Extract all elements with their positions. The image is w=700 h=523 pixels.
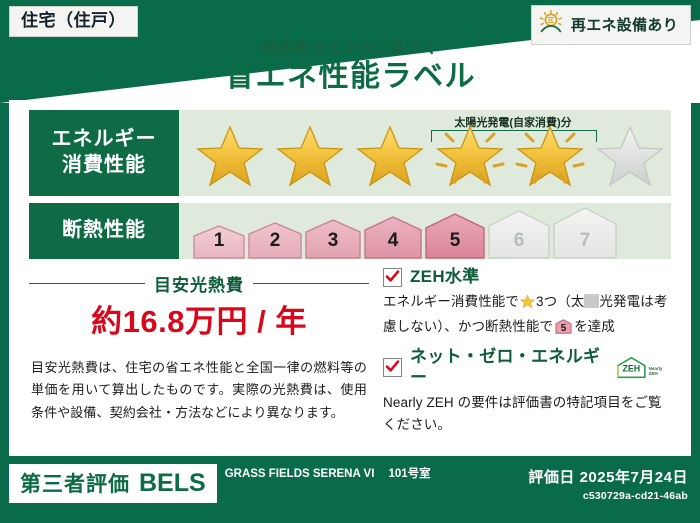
label-footer: 第三者評価 BELS GRASS FIELDS SERENA VI101号室 評… <box>0 458 700 523</box>
zeh-standard-check-head: ZEH水準 <box>383 267 671 287</box>
energy-key-line1: エネルギー <box>52 127 157 153</box>
star-icon-inactive <box>596 123 664 189</box>
insulation-level-5: 5 <box>425 213 485 259</box>
label-title: 建築物省エネ法に基づく 省エネ性能ラベル <box>0 40 700 96</box>
star-4 <box>431 120 509 192</box>
title-subtitle: 建築物省エネ法に基づく <box>0 40 700 58</box>
insulation-level-4: 4 <box>364 216 422 259</box>
star-icon <box>276 123 344 189</box>
renewable-equipment-badge: 再エネ設備あり <box>531 5 691 45</box>
energy-performance-row: エネルギー 消費性能 太陽光発電(自家消費)分 <box>29 110 671 196</box>
energy-key-line2: 消費性能 <box>62 153 146 179</box>
insulation-level-4-number: 4 <box>388 231 399 259</box>
insulation-level-2-number: 2 <box>270 231 281 259</box>
checkbox-checked-icon <box>383 358 402 377</box>
property-unit: 101号室 <box>388 468 430 480</box>
bels-badge: 第三者評価 BELS <box>9 464 217 503</box>
utility-cost-heading: 目安光熱費 <box>29 271 369 296</box>
insulation-level-1: 1 <box>193 225 245 259</box>
insulation-level-3-number: 3 <box>328 231 339 259</box>
insulation-level-7: 7 <box>553 207 617 259</box>
utility-cost-note: 目安光熱費は、住宅の省エネ性能と全国一律の燃料等の単価を用いて算出したものです。… <box>29 357 369 424</box>
energy-performance-label: 住宅（住戸） 再エネ設備あり 建築物省エネ法に基づく 省エネ性 <box>0 0 700 523</box>
insulation-level-1-number: 1 <box>214 231 225 259</box>
property-name: GRASS FIELDS SERENA VI <box>225 468 375 480</box>
property-info: GRASS FIELDS SERENA VI101号室 <box>225 467 431 483</box>
house-icon-number: 5 <box>555 321 572 337</box>
solar-sun-icon <box>538 9 564 40</box>
zeh-standard-body: エネルギー消費性能で3つ（太光発電は考慮しない）、かつ断熱性能で5を達成 <box>383 291 671 338</box>
insulation-performance-row: 断熱性能 1 2 <box>29 203 671 259</box>
net-zero-title: ネット・ゼロ・エネルギー <box>410 347 604 388</box>
insulation-level-2: 2 <box>248 222 302 259</box>
star-2 <box>271 120 349 192</box>
zeh-standard-title: ZEH水準 <box>410 267 480 287</box>
redacted-character <box>584 294 599 308</box>
utility-cost-value: 約16.8万円 / 年 <box>29 305 369 339</box>
star-icon <box>356 123 424 189</box>
net-zero-body: Nearly ZEH の要件は評価書の特記項目をご覧ください。 <box>383 392 671 436</box>
insulation-level-7-number: 7 <box>580 231 591 259</box>
zeh-standard-check: ZEH水準 エネルギー消費性能で3つ（太光発電は考慮しない）、かつ断熱性能で5を… <box>383 267 671 338</box>
title-main: 省エネ性能ラベル <box>0 59 700 96</box>
house-icon: 5 <box>555 319 572 334</box>
evaluation-meta: 評価日 2025年7月24日 c530729a-cd21-46ab <box>528 466 688 502</box>
star-icon <box>196 123 264 189</box>
evaluation-date-value: 2025年7月24日 <box>580 469 688 486</box>
energy-performance-key: エネルギー 消費性能 <box>29 110 179 196</box>
certification-checks: ZEH水準 エネルギー消費性能で3つ（太光発電は考慮しない）、かつ断熱性能で5を… <box>369 267 671 453</box>
insulation-performance-key: 断熱性能 <box>29 203 179 259</box>
star-1 <box>191 120 269 192</box>
star-icon <box>436 123 504 189</box>
star-icon <box>520 294 535 316</box>
insulation-level-5-number: 5 <box>450 231 461 259</box>
evaluation-date-line: 評価日 2025年7月24日 <box>528 466 688 487</box>
zeh-house-logo: ZEH Nearly ZEH <box>616 355 671 380</box>
star-3 <box>351 120 429 192</box>
star-6 <box>591 120 669 192</box>
cost-rule-right <box>253 283 369 285</box>
net-zero-check-head: ネット・ゼロ・エネルギー ZEH Nearly ZEH <box>383 347 671 388</box>
insulation-level-scale: 1 2 3 <box>179 203 617 259</box>
bels-en-label: BELS <box>139 469 206 498</box>
zeh-logo-subtext: Nearly ZEH <box>649 367 671 380</box>
zeh-body-part1: エネルギー消費性能で <box>383 294 519 309</box>
zeh-body-part2: 3つ（太 <box>536 294 584 309</box>
utility-cost-heading-label: 目安光熱費 <box>154 271 244 296</box>
energy-performance-value: 太陽光発電(自家消費)分 <box>179 110 671 196</box>
svg-text:ZEH: ZEH <box>622 364 640 374</box>
net-zero-energy-check: ネット・ゼロ・エネルギー ZEH Nearly ZEH Nearly ZEH の… <box>383 347 671 436</box>
renewable-badge-label: 再エネ設備あり <box>571 14 678 35</box>
insulation-level-3: 3 <box>305 219 361 259</box>
checkbox-checked-icon <box>383 268 402 287</box>
building-type-tag: 住宅（住戸） <box>9 6 138 37</box>
insulation-level-6: 6 <box>488 210 550 259</box>
cost-rule-left <box>29 283 145 285</box>
insulation-level-6-number: 6 <box>514 231 525 259</box>
utility-cost-section: 目安光熱費 約16.8万円 / 年 目安光熱費は、住宅の省エネ性能と全国一律の燃… <box>29 267 369 453</box>
star-5 <box>511 120 589 192</box>
bels-jp-label: 第三者評価 <box>20 468 130 498</box>
document-id: c530729a-cd21-46ab <box>528 490 688 502</box>
insulation-performance-value: 1 2 3 <box>179 203 671 259</box>
evaluation-date-label: 評価日 <box>528 469 575 486</box>
star-icon <box>516 123 584 189</box>
zeh-body-part4: を達成 <box>574 319 615 334</box>
label-body-card: エネルギー 消費性能 太陽光発電(自家消費)分 <box>9 100 691 456</box>
star-rating <box>179 120 669 192</box>
lower-section: 目安光熱費 約16.8万円 / 年 目安光熱費は、住宅の省エネ性能と全国一律の燃… <box>29 267 671 453</box>
